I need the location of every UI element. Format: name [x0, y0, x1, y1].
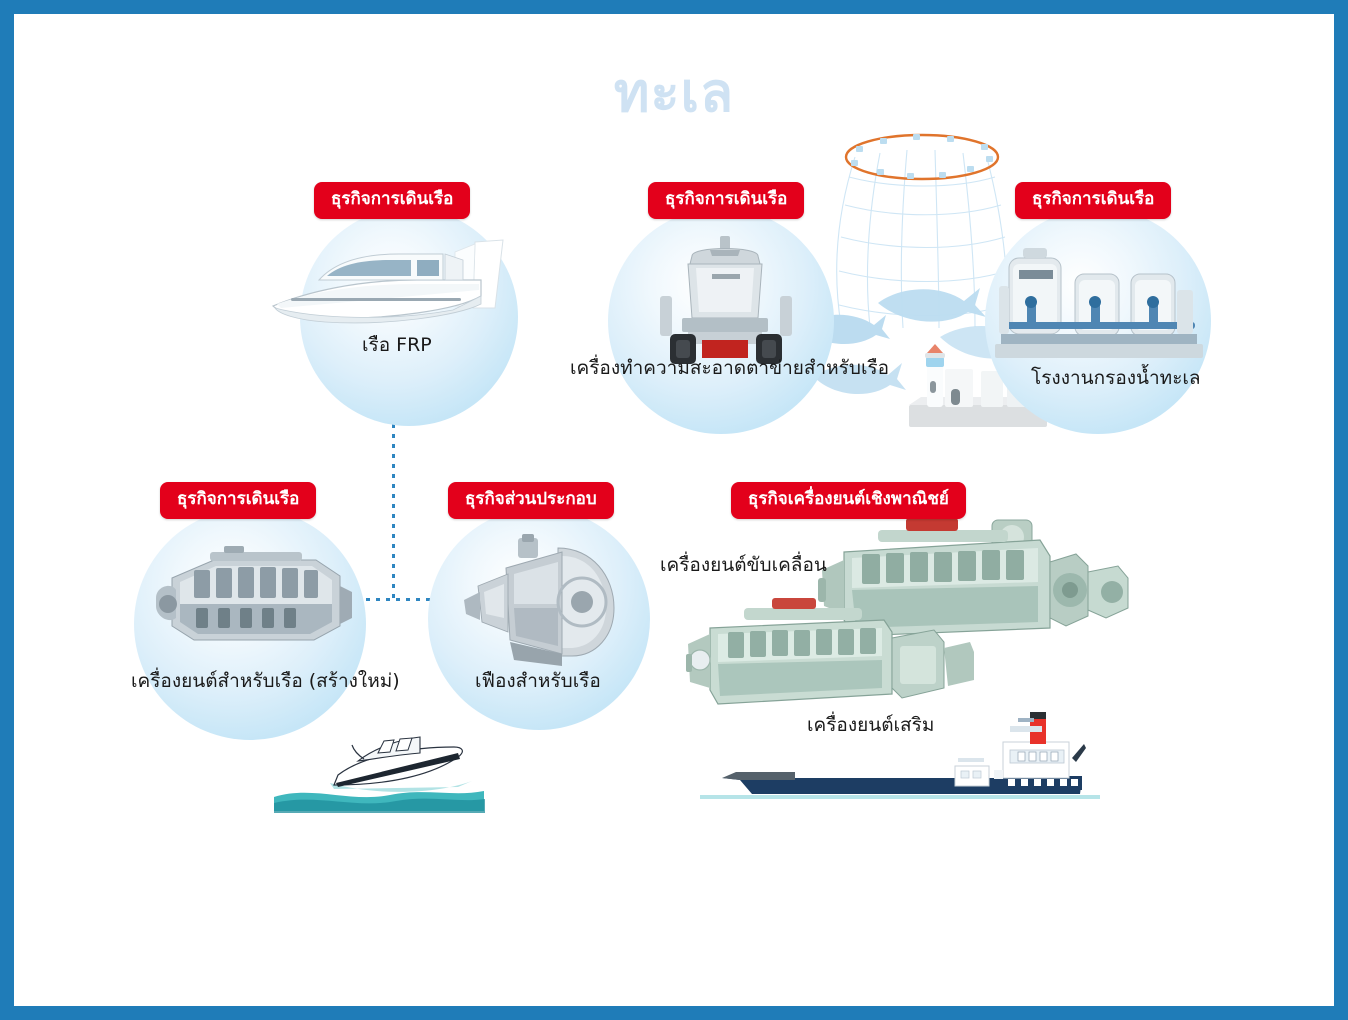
caption-seawater-plant: โรงงานกรองน้ำทะเล — [1031, 367, 1201, 390]
caption-marine-engine: เครื่องยนต์สำหรับเรือ (สร้างใหม่) — [131, 670, 400, 693]
frame-border-top — [0, 0, 1348, 14]
caption-propulsion-engine: เครื่องยนต์ขับเคลื่อน — [660, 554, 827, 577]
infographic-page: ทะเล — [0, 0, 1348, 1020]
badge-frp-boat[interactable]: ธุรกิจการเดินเรือ — [314, 182, 470, 219]
badge-marine-engine[interactable]: ธุรกิจการเดินเรือ — [160, 482, 316, 519]
auxiliary-engine-photo — [686, 594, 976, 734]
marine-gear-photo — [462, 534, 632, 674]
badge-marine-gear[interactable]: ธุรกิจส่วนประกอบ — [448, 482, 614, 519]
page-title: ทะเล — [0, 62, 1348, 124]
badge-commercial-engine[interactable]: ธุรกิจเครื่องยนต์เชิงพาณิชย์ — [731, 482, 966, 519]
speedboat-wave-illustration — [272, 723, 487, 818]
connector-vertical — [392, 404, 395, 600]
frame-border-left — [0, 0, 14, 1020]
caption-net-cleaner: เครื่องทำความสะอาดตาข่ายสำหรับเรือ — [570, 357, 889, 380]
caption-frp-boat: เรือ FRP — [362, 334, 432, 357]
frp-boat-photo — [267, 234, 527, 344]
caption-auxiliary-engine: เครื่องยนต์เสริม — [807, 714, 934, 737]
badge-net-cleaner[interactable]: ธุรกิจการเดินเรือ — [648, 182, 804, 219]
marine-engine-photo — [154, 542, 354, 662]
frame-border-bottom — [0, 1006, 1348, 1020]
seawater-filtration-plant-photo — [991, 230, 1211, 370]
net-cleaning-machine-photo — [652, 234, 802, 374]
badge-seawater-plant[interactable]: ธุรกิจการเดินเรือ — [1015, 182, 1171, 219]
frame-border-right — [1334, 0, 1348, 1020]
caption-marine-gear: เฟืองสำหรับเรือ — [475, 670, 601, 693]
